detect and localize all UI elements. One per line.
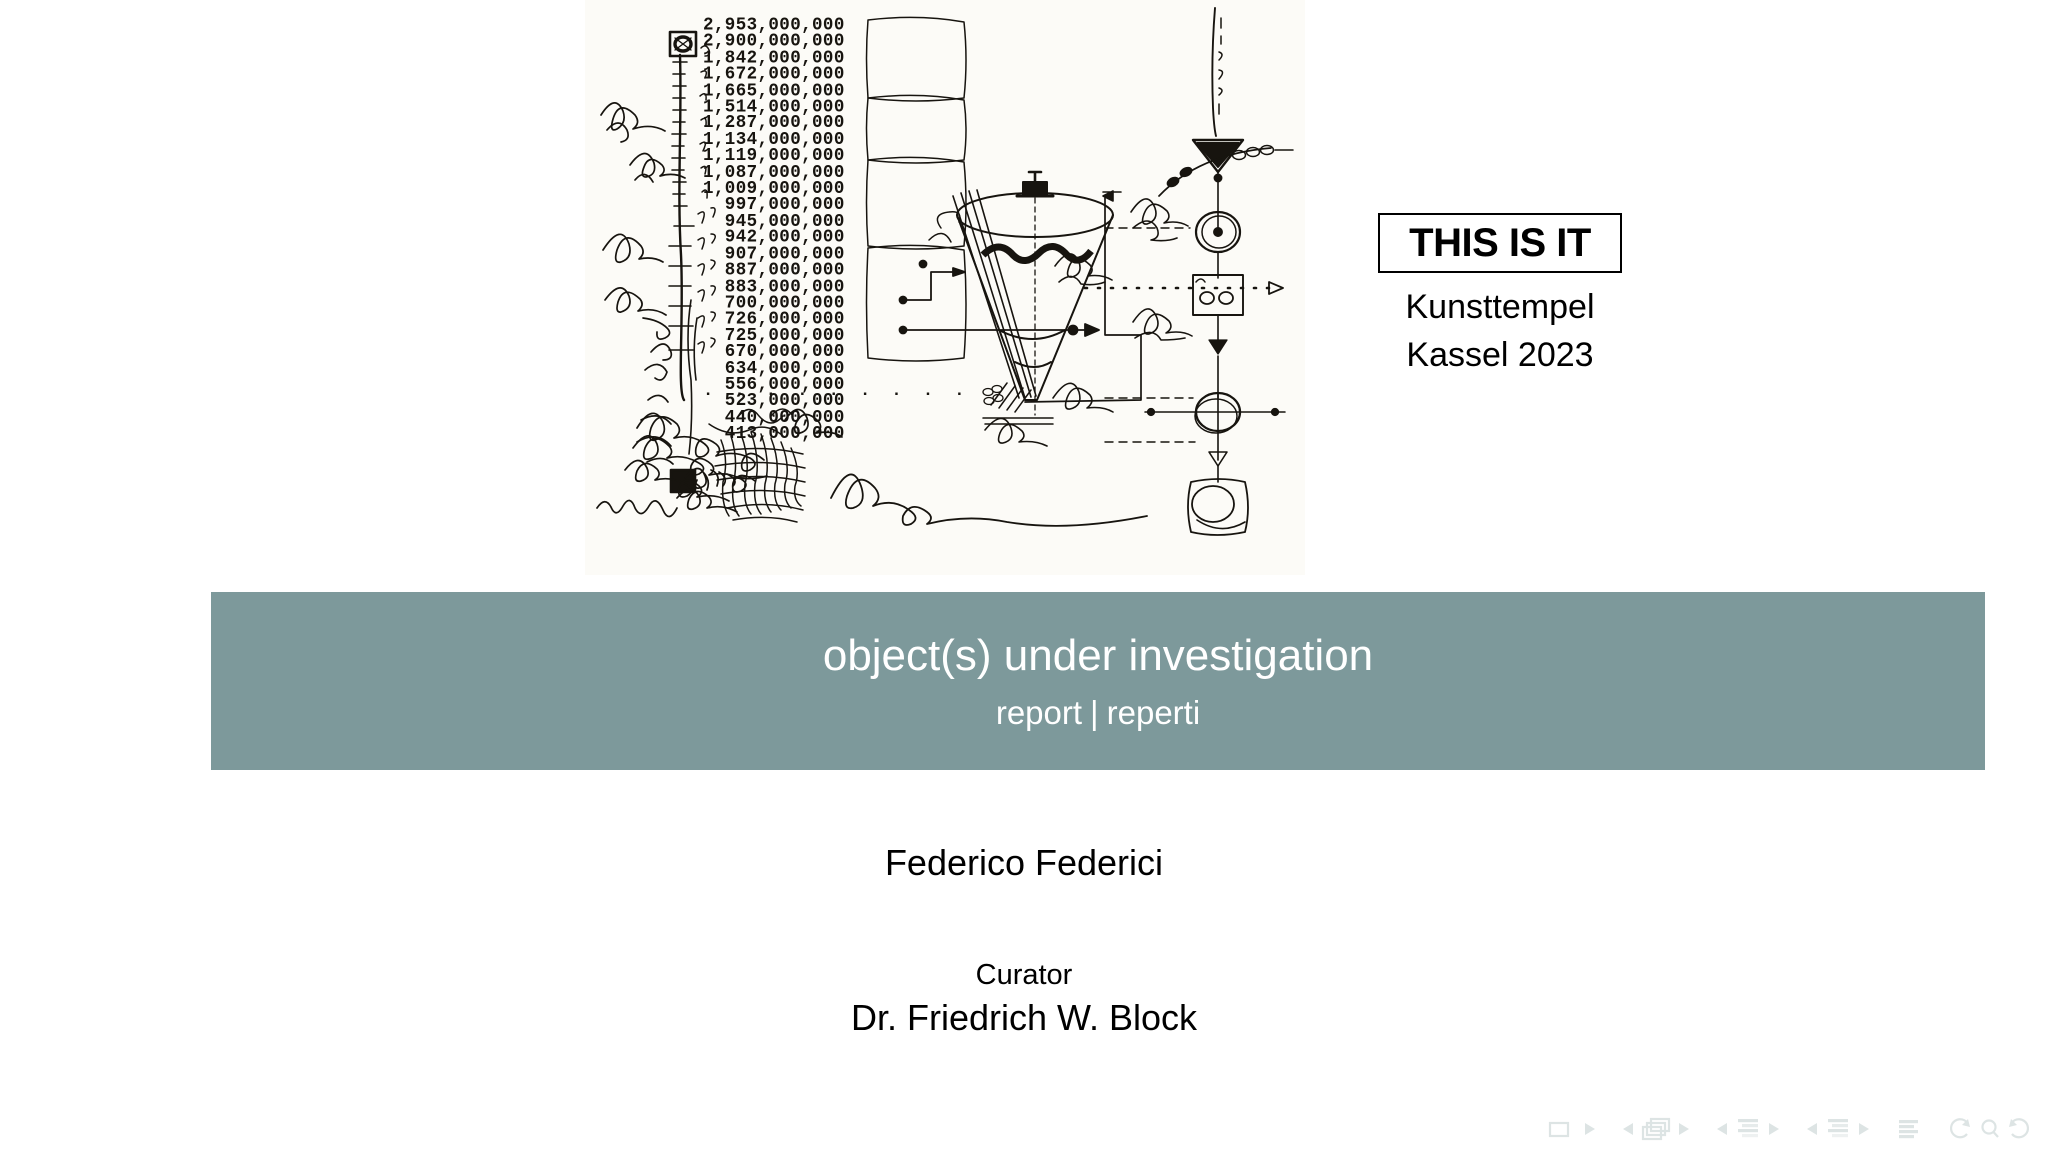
previous-subsection-icon[interactable] bbox=[1714, 1118, 1732, 1140]
title-band: object(s) under investigation report|rep… bbox=[211, 592, 1985, 770]
this-is-it-label: THIS IS IT bbox=[1409, 223, 1591, 263]
artwork-number-column: 2,953,000,000 2,900,000,000 1,842,000,00… bbox=[703, 18, 845, 443]
previous-slide-icon[interactable] bbox=[1620, 1118, 1638, 1140]
artwork-dots-row: . . . . . . . . . bbox=[703, 382, 970, 401]
slide-icon[interactable] bbox=[1547, 1118, 1571, 1140]
document-icon[interactable] bbox=[1894, 1116, 1924, 1142]
previous-section-icon[interactable] bbox=[1804, 1118, 1822, 1140]
author-name: Federico Federici bbox=[0, 845, 2048, 881]
subtitle-separator: | bbox=[1082, 694, 1107, 731]
section-icon[interactable] bbox=[1822, 1116, 1854, 1142]
next-slide-icon[interactable] bbox=[1674, 1118, 1692, 1140]
venue-line-1: Kunsttempel bbox=[1378, 283, 1622, 331]
next-section-icon[interactable] bbox=[1854, 1118, 1872, 1140]
subtitle-right: reperti bbox=[1107, 694, 1201, 731]
curator-name: Dr. Friedrich W. Block bbox=[0, 995, 2048, 1041]
this-is-it-banner: THIS IS IT bbox=[1378, 213, 1622, 273]
next-frame-icon[interactable] bbox=[1580, 1118, 1598, 1140]
artwork-drawing bbox=[585, 0, 1305, 575]
beamer-navigation-bar[interactable] bbox=[1547, 1112, 2034, 1146]
subsection-icon[interactable] bbox=[1732, 1116, 1764, 1142]
curator-role: Curator bbox=[0, 955, 2048, 995]
forward-icon[interactable] bbox=[2004, 1116, 2034, 1142]
artwork-image: 2,953,000,000 2,900,000,000 1,842,000,00… bbox=[585, 0, 1305, 575]
venue-line-2: Kassel 2023 bbox=[1378, 331, 1622, 379]
page-subtitle: report|reperti bbox=[996, 696, 1200, 729]
slides-stack-icon[interactable] bbox=[1638, 1116, 1674, 1142]
venue-block: Kunsttempel Kassel 2023 bbox=[1378, 283, 1622, 379]
back-icon[interactable] bbox=[1946, 1116, 1976, 1142]
next-subsection-icon[interactable] bbox=[1764, 1118, 1782, 1140]
page-title: object(s) under investigation bbox=[823, 633, 1373, 679]
curator-block: Curator Dr. Friedrich W. Block bbox=[0, 955, 2048, 1041]
search-icon[interactable] bbox=[1976, 1116, 2004, 1142]
subtitle-left: report bbox=[996, 694, 1082, 731]
